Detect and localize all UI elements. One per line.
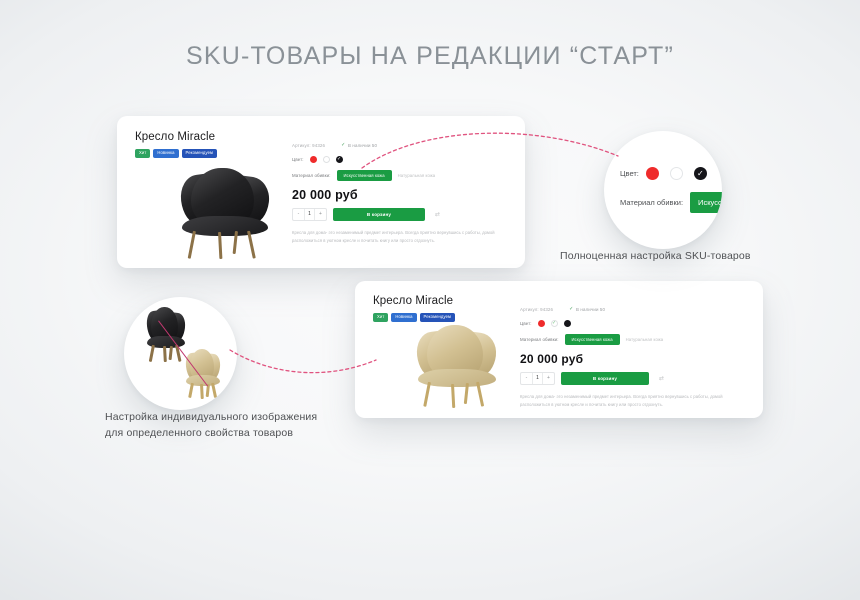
- quantity-stepper[interactable]: - 1 +: [520, 372, 555, 385]
- product-description: Кресла для дома- это незаменимый предмет…: [292, 229, 507, 244]
- check-icon: ✓: [341, 143, 345, 148]
- add-to-cart-button[interactable]: В корзину: [333, 208, 425, 221]
- stock-status: ✓ В наличии 50: [341, 143, 377, 148]
- color-swatch-red[interactable]: [310, 156, 317, 163]
- material-option-row: Материал обивки: Искусственная кожа Нату…: [292, 170, 513, 181]
- caption-sku-setup: Полноценная настройка SKU-товаров: [560, 249, 751, 265]
- compare-icon[interactable]: ⇄: [659, 375, 664, 382]
- material-option-natural[interactable]: Натуральная кожа: [398, 173, 436, 178]
- badge-group: Хит Новинка Рекомендуем: [373, 313, 455, 322]
- product-meta-row: Артикул: 94326 ✓ В наличии 50: [292, 143, 513, 148]
- magnified-material-row: Материал обивки: Искусс: [620, 192, 722, 213]
- product-image-dark-chair: [165, 168, 285, 260]
- check-icon: ✓: [697, 170, 704, 178]
- magnifier-circle-variant-images: [124, 297, 237, 410]
- color-swatch-white[interactable]: [323, 156, 330, 163]
- material-label: Материал обивки:: [520, 337, 559, 342]
- variant-image-beige-chair: [180, 349, 226, 399]
- material-option-artificial[interactable]: Искусственная кожа: [337, 170, 392, 181]
- color-swatches: ✓: [310, 156, 343, 163]
- product-meta-row: Артикул: 94326 ✓ В наличии 50: [520, 307, 751, 312]
- material-option-artificial[interactable]: Искусственная кожа: [565, 334, 620, 345]
- quantity-decrement[interactable]: -: [293, 208, 304, 221]
- badge-group: Хит Новинка Рекомендуем: [135, 149, 217, 158]
- color-swatch-white[interactable]: ✓: [551, 320, 558, 327]
- quantity-increment[interactable]: +: [315, 208, 326, 221]
- page-title: SKU-ТОВАРЫ НА РЕДАКЦИИ “СТАРТ”: [0, 42, 860, 71]
- purchase-row: - 1 + В корзину ⇄: [292, 208, 513, 221]
- color-swatch-red[interactable]: [538, 320, 545, 327]
- sku-label: Артикул: 94326: [292, 143, 325, 148]
- quantity-value: 1: [304, 208, 315, 221]
- color-swatch-black[interactable]: ✓: [694, 167, 707, 180]
- check-icon: ✓: [569, 307, 573, 312]
- quantity-increment[interactable]: +: [543, 372, 554, 385]
- product-title: Кресло Miracle: [373, 295, 453, 307]
- product-price: 20 000 руб: [520, 352, 751, 366]
- add-to-cart-button[interactable]: В корзину: [561, 372, 649, 385]
- product-card-beige: Кресло Miracle Хит Новинка Рекомендуем А…: [355, 281, 763, 418]
- product-card-dark: Кресло Miracle Хит Новинка Рекомендуем А…: [117, 116, 525, 268]
- quantity-stepper[interactable]: - 1 +: [292, 208, 327, 221]
- check-icon: ✓: [552, 321, 556, 326]
- color-swatch-red[interactable]: [646, 167, 659, 180]
- badge-new: Новинка: [153, 149, 178, 158]
- color-option-row: Цвет: ✓: [520, 320, 751, 327]
- color-swatches: ✓: [646, 167, 707, 180]
- badge-hit: Хит: [135, 149, 150, 158]
- quantity-value: 1: [532, 372, 543, 385]
- magnified-color-row: Цвет: ✓: [620, 167, 722, 180]
- purchase-row: - 1 + В корзину ⇄: [520, 372, 751, 385]
- material-label: Материал обивки:: [292, 173, 331, 178]
- color-swatch-black[interactable]: [564, 320, 571, 327]
- magnifier-circle-options: Цвет: ✓ Материал обивки: Искусс: [604, 131, 722, 249]
- color-swatch-black[interactable]: ✓: [336, 156, 343, 163]
- compare-icon[interactable]: ⇄: [435, 211, 440, 218]
- color-label: Цвет:: [292, 157, 304, 162]
- color-label: Цвет:: [520, 321, 532, 326]
- color-label: Цвет:: [620, 169, 639, 178]
- color-swatch-white[interactable]: [670, 167, 683, 180]
- badge-hit: Хит: [373, 313, 388, 322]
- color-swatches: ✓: [538, 320, 571, 327]
- badge-recommended: Рекомендуем: [420, 313, 455, 322]
- product-image-beige-chair: [403, 325, 511, 409]
- product-title: Кресло Miracle: [135, 131, 215, 143]
- product-price: 20 000 руб: [292, 188, 513, 202]
- stock-status: ✓ В наличии 50: [569, 307, 605, 312]
- material-option-row: Материал обивки: Искусственная кожа Нату…: [520, 334, 751, 345]
- caption-variant-image-setup: Настройка индивидуального изображения дл…: [105, 410, 317, 442]
- caption-line-1: Настройка индивидуального изображения: [105, 410, 317, 426]
- material-option-natural[interactable]: Натуральная кожа: [626, 337, 664, 342]
- material-option-artificial[interactable]: Искусс: [690, 192, 722, 213]
- caption-line-2: для определенного свойства товаров: [105, 426, 317, 442]
- material-label: Материал обивки:: [620, 198, 683, 207]
- sku-label: Артикул: 94326: [520, 307, 553, 312]
- check-icon: ✓: [337, 157, 341, 162]
- color-option-row: Цвет: ✓: [292, 156, 513, 163]
- badge-new: Новинка: [391, 313, 416, 322]
- product-description: Кресла для дома- это незаменимый предмет…: [520, 393, 735, 408]
- badge-recommended: Рекомендуем: [182, 149, 217, 158]
- quantity-decrement[interactable]: -: [521, 372, 532, 385]
